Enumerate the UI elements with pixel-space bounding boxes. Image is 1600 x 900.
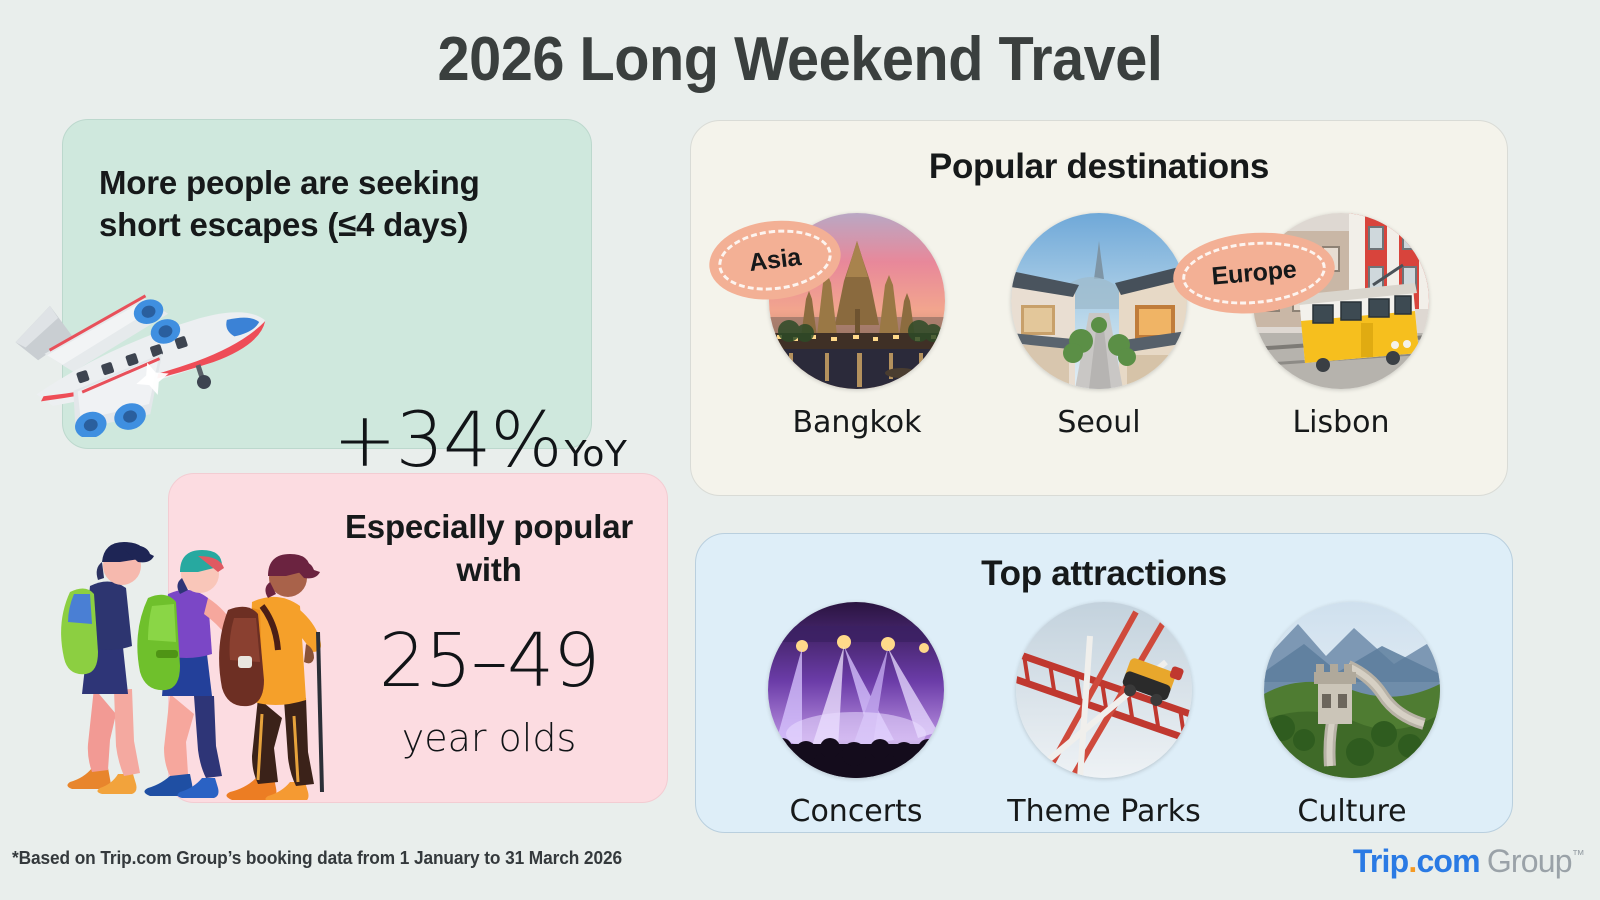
age-range-sublabel: year olds: [339, 716, 639, 760]
yoy-stat-suffix: YoY: [565, 434, 628, 475]
seoul-photo: [1011, 213, 1187, 389]
attractions-row: Concerts: [696, 602, 1512, 829]
attraction-item[interactable]: Theme Parks: [1016, 602, 1192, 829]
attraction-item[interactable]: Concerts: [768, 602, 944, 829]
age-range-value: 25–49: [339, 624, 639, 698]
region-badge-asia-label: Asia: [747, 242, 802, 277]
infographic-canvas: 2026 Long Weekend Travel More people are…: [0, 0, 1600, 900]
page-title: 2026 Long Weekend Travel: [56, 24, 1544, 95]
logo-group-text: Group: [1487, 843, 1572, 880]
logo-trip-text: Trip: [1353, 843, 1408, 880]
airplane-illustration: [10, 262, 285, 437]
region-badge-europe-label: Europe: [1210, 255, 1297, 291]
destination-item[interactable]: Seoul: [1011, 213, 1187, 440]
logo-com-text: com: [1416, 843, 1479, 880]
age-group-headline: Especially popular with: [339, 506, 639, 592]
destination-label: Seoul: [1057, 405, 1140, 440]
yoy-stat-value: +34%: [333, 402, 562, 478]
popular-destinations-card: Popular destinations: [690, 120, 1508, 496]
top-attractions-card: Top attractions: [695, 533, 1513, 833]
footnote: *Based on Trip.com Group’s booking data …: [12, 848, 622, 869]
attraction-item[interactable]: Culture: [1264, 602, 1440, 829]
trip-com-group-logo[interactable]: Trip . com Group ™: [1353, 843, 1584, 880]
hikers-illustration: [22, 482, 352, 800]
attraction-label: Theme Parks: [1007, 794, 1200, 829]
logo-trademark-mark: ™: [1572, 847, 1584, 862]
top-attractions-title: Top attractions: [696, 554, 1512, 594]
short-escapes-headline: More people are seeking short escapes (≤…: [99, 162, 569, 246]
concerts-photo: [768, 602, 944, 778]
yoy-stat: +34% YoY: [333, 402, 627, 478]
logo-dot: .: [1408, 843, 1416, 880]
attraction-label: Concerts: [790, 794, 923, 829]
popular-destinations-title: Popular destinations: [691, 147, 1507, 187]
attraction-label: Culture: [1297, 794, 1406, 829]
destination-label: Bangkok: [792, 405, 921, 440]
culture-photo: [1264, 602, 1440, 778]
destination-label: Lisbon: [1292, 405, 1389, 440]
theme-parks-photo: [1016, 602, 1192, 778]
